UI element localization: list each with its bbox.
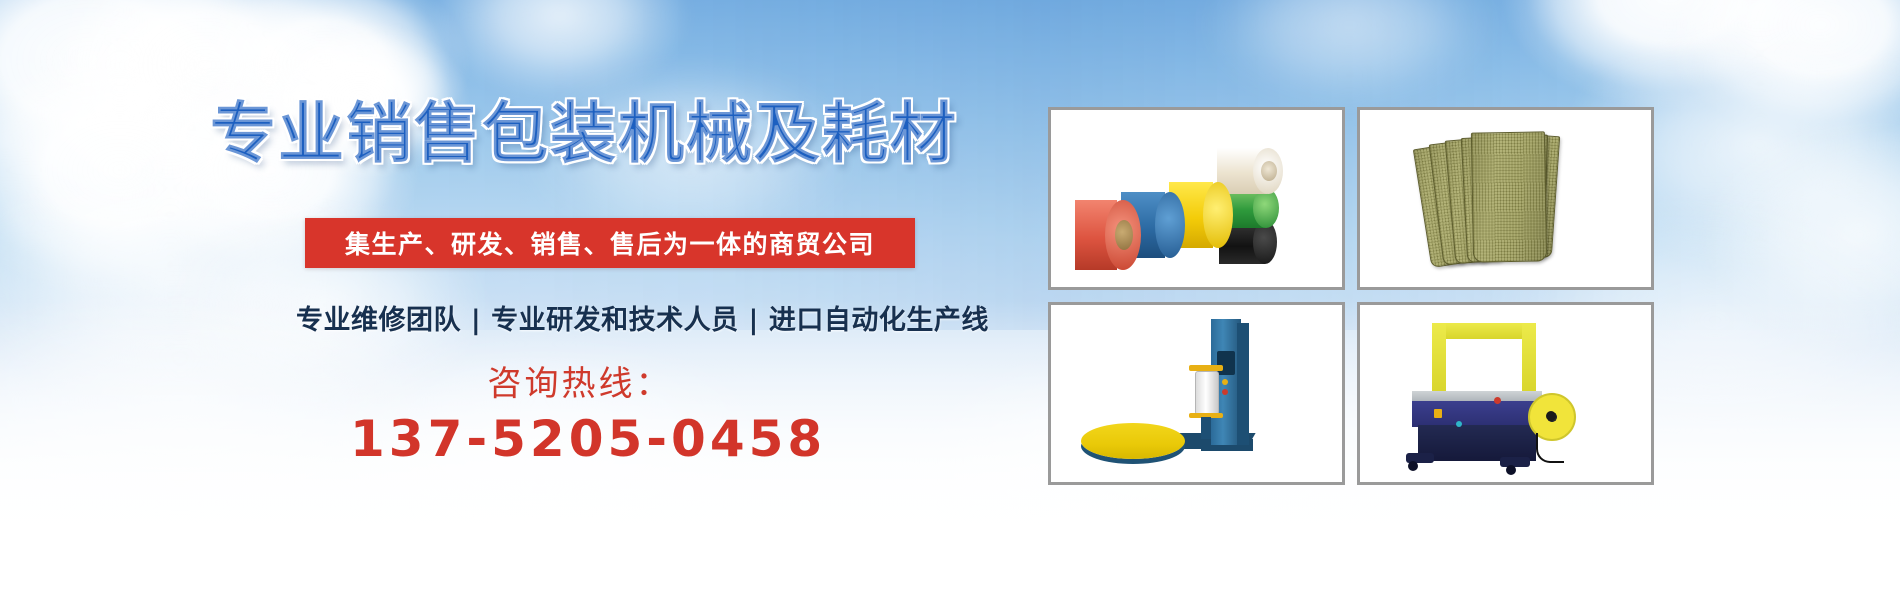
hotline-number[interactable]: 137-5205-0458: [350, 410, 810, 468]
machine-power-cord: [1536, 433, 1564, 463]
machine-power-button: [1456, 421, 1462, 427]
page-title: 专业销售包装机械及耗材: [210, 98, 958, 170]
wrapper-carriage-arm: [1201, 417, 1211, 439]
machine-arch-right: [1522, 323, 1536, 395]
tagline-text: 集生产、研发、销售、售后为一体的商贸公司: [345, 225, 875, 261]
wrapper-indicator-led: [1222, 389, 1228, 395]
machine-reel-hub: [1546, 411, 1556, 421]
product-image-grid: [1048, 107, 1654, 489]
stretch-wrapper-illustration: [1051, 305, 1342, 482]
strapping-machine-illustration: [1360, 305, 1651, 482]
product-tile-stretch-wrapper[interactable]: [1048, 302, 1345, 485]
machine-arch-left: [1432, 323, 1446, 395]
machine-foot-right: [1500, 457, 1530, 467]
roll-red: [1075, 200, 1141, 270]
wrapper-control-panel: [1217, 351, 1235, 375]
machine-caster-left: [1408, 461, 1418, 471]
wrapper-turntable: [1081, 423, 1185, 459]
product-tile-strapping-machine[interactable]: [1357, 302, 1654, 485]
machine-body-upper: [1412, 401, 1542, 427]
woven-sacks-illustration: [1360, 110, 1651, 287]
product-tile-strapping-rolls[interactable]: [1048, 107, 1345, 290]
machine-body-lower: [1418, 425, 1536, 461]
tagline-ribbon: 集生产、研发、销售、售后为一体的商贸公司: [305, 218, 915, 268]
sack-front: [1471, 131, 1547, 262]
feature-list: 专业维修团队 | 专业研发和技术人员 | 进口自动化生产线: [296, 298, 989, 337]
machine-warning-label: [1434, 409, 1442, 418]
product-tile-woven-sacks[interactable]: [1357, 107, 1654, 290]
wrapper-mast-side: [1237, 323, 1249, 445]
headline-block: 专业销售包装机械及耗材 集生产、研发、销售、售后为一体的商贸公司 专业维修团队 …: [0, 0, 1048, 600]
machine-caster-right: [1506, 465, 1516, 475]
wrapper-film-roll: [1195, 371, 1219, 415]
strapping-rolls-illustration: [1051, 110, 1342, 287]
hotline-label: 咨询热线：: [430, 356, 730, 405]
promo-banner: 专业销售包装机械及耗材 集生产、研发、销售、售后为一体的商贸公司 专业维修团队 …: [0, 0, 1900, 600]
machine-stop-button: [1494, 397, 1501, 404]
machine-arch-top: [1432, 323, 1536, 339]
wrapper-indicator-led: [1222, 379, 1228, 385]
